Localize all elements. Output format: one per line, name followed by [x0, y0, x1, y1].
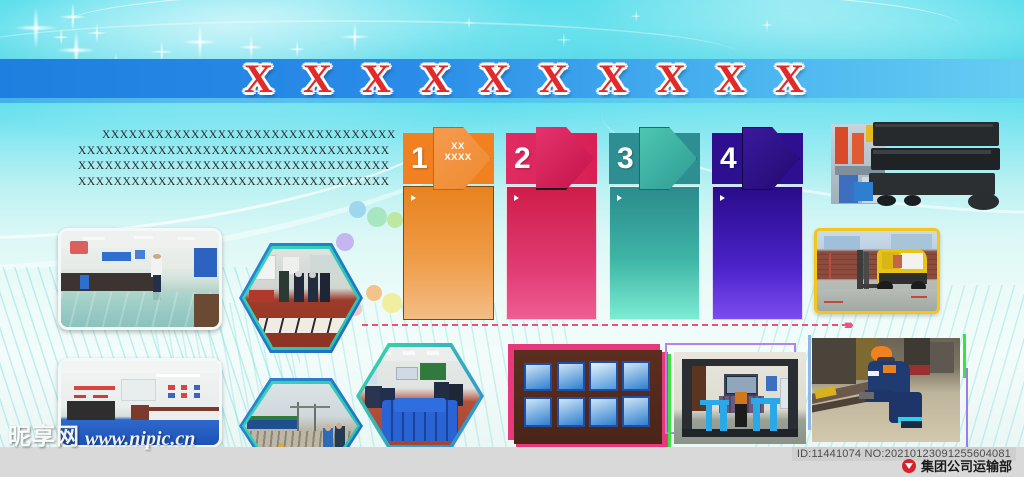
photo-yellow-forklift — [814, 228, 940, 314]
step-3-arrow-icon — [639, 127, 697, 190]
decor-circle — [349, 201, 366, 218]
department-name: 集团公司运输部 — [921, 456, 1012, 475]
step-4-header: 4 — [712, 133, 803, 184]
step-4-body[interactable] — [712, 186, 803, 320]
step-1-body[interactable] — [403, 186, 494, 320]
title-char: X — [716, 55, 745, 102]
decor-circle — [382, 293, 402, 313]
step-4-number: 4 — [720, 144, 737, 174]
decor-circle — [367, 207, 387, 227]
photo-meeting-room-documents — [356, 343, 484, 449]
title-char: X — [303, 55, 332, 102]
flow-chevron-icon: ›››› — [844, 316, 851, 332]
sparkle-star — [556, 32, 572, 48]
bullet-arrow-icon — [411, 195, 416, 201]
step-4-arrow-icon — [742, 127, 800, 190]
title-char: X — [244, 55, 273, 102]
step-panel-3[interactable]: 3 — [609, 133, 700, 320]
step-2-body[interactable] — [506, 186, 597, 320]
sparkle-star — [58, 2, 88, 32]
title-char: X — [598, 55, 627, 102]
step-1-arrow-label: XXXXXX — [436, 141, 480, 163]
step-panel-2[interactable]: 2 — [506, 133, 597, 320]
photo-equipment-inspection-hex — [239, 243, 363, 353]
step-1-number: 1 — [411, 144, 428, 174]
decor-circle — [366, 285, 382, 301]
title-char: X — [775, 55, 804, 102]
step-2-number: 2 — [514, 144, 531, 174]
step-3-header: 3 — [609, 133, 700, 184]
step-2-header: 2 — [506, 133, 597, 184]
sparkle-star — [462, 16, 476, 30]
title-char: X — [539, 55, 568, 102]
sparkle-star — [52, 28, 70, 46]
flow-dashed-line — [362, 324, 848, 326]
step-2-arrow-icon — [536, 127, 594, 190]
bullet-arrow-icon — [617, 195, 622, 201]
sparkle-star — [630, 10, 642, 22]
step-panel-4[interactable]: 4 — [712, 133, 803, 320]
decor-circle — [387, 212, 403, 228]
bullet-arrow-icon — [720, 195, 725, 201]
title-char: X — [657, 55, 686, 102]
intro-paragraph: XXXXXXXXXXXXXXXXXXXXXXXXXXXXXXXXXXXXXXXX… — [78, 128, 398, 190]
title-char: X — [421, 55, 450, 102]
photo-driving-simulator — [670, 348, 806, 444]
sparkle-star — [182, 24, 218, 60]
sparkle-star — [340, 22, 370, 52]
step-3-body[interactable] — [609, 186, 700, 320]
page-title: X X X X X X X X X X — [244, 49, 804, 107]
sparkle-star — [14, 6, 58, 50]
photo-rail-maintenance-worker — [812, 338, 960, 442]
step-3-number: 3 — [617, 144, 634, 174]
step-panel-1[interactable]: 1 XXXXXX — [403, 133, 494, 320]
sparkle-star — [86, 22, 108, 44]
sparkle-star — [760, 18, 774, 32]
photo-document-folders — [512, 348, 664, 446]
poster-canvas: X X X X X X X X X X XXXXXXXXXXXXXXXXXXXX… — [0, 0, 1024, 477]
title-char: X — [362, 55, 391, 102]
title-char: X — [480, 55, 509, 102]
company-logo-icon — [902, 459, 916, 473]
photo-training-classroom — [58, 358, 222, 448]
department-label: 集团公司运输部 — [902, 456, 1012, 475]
bullet-arrow-icon — [514, 195, 519, 201]
photo-service-hall-office — [58, 228, 222, 330]
step-1-header: 1 XXXXXX — [403, 133, 494, 184]
photo-cargo-trucks-cutout — [820, 118, 1010, 210]
